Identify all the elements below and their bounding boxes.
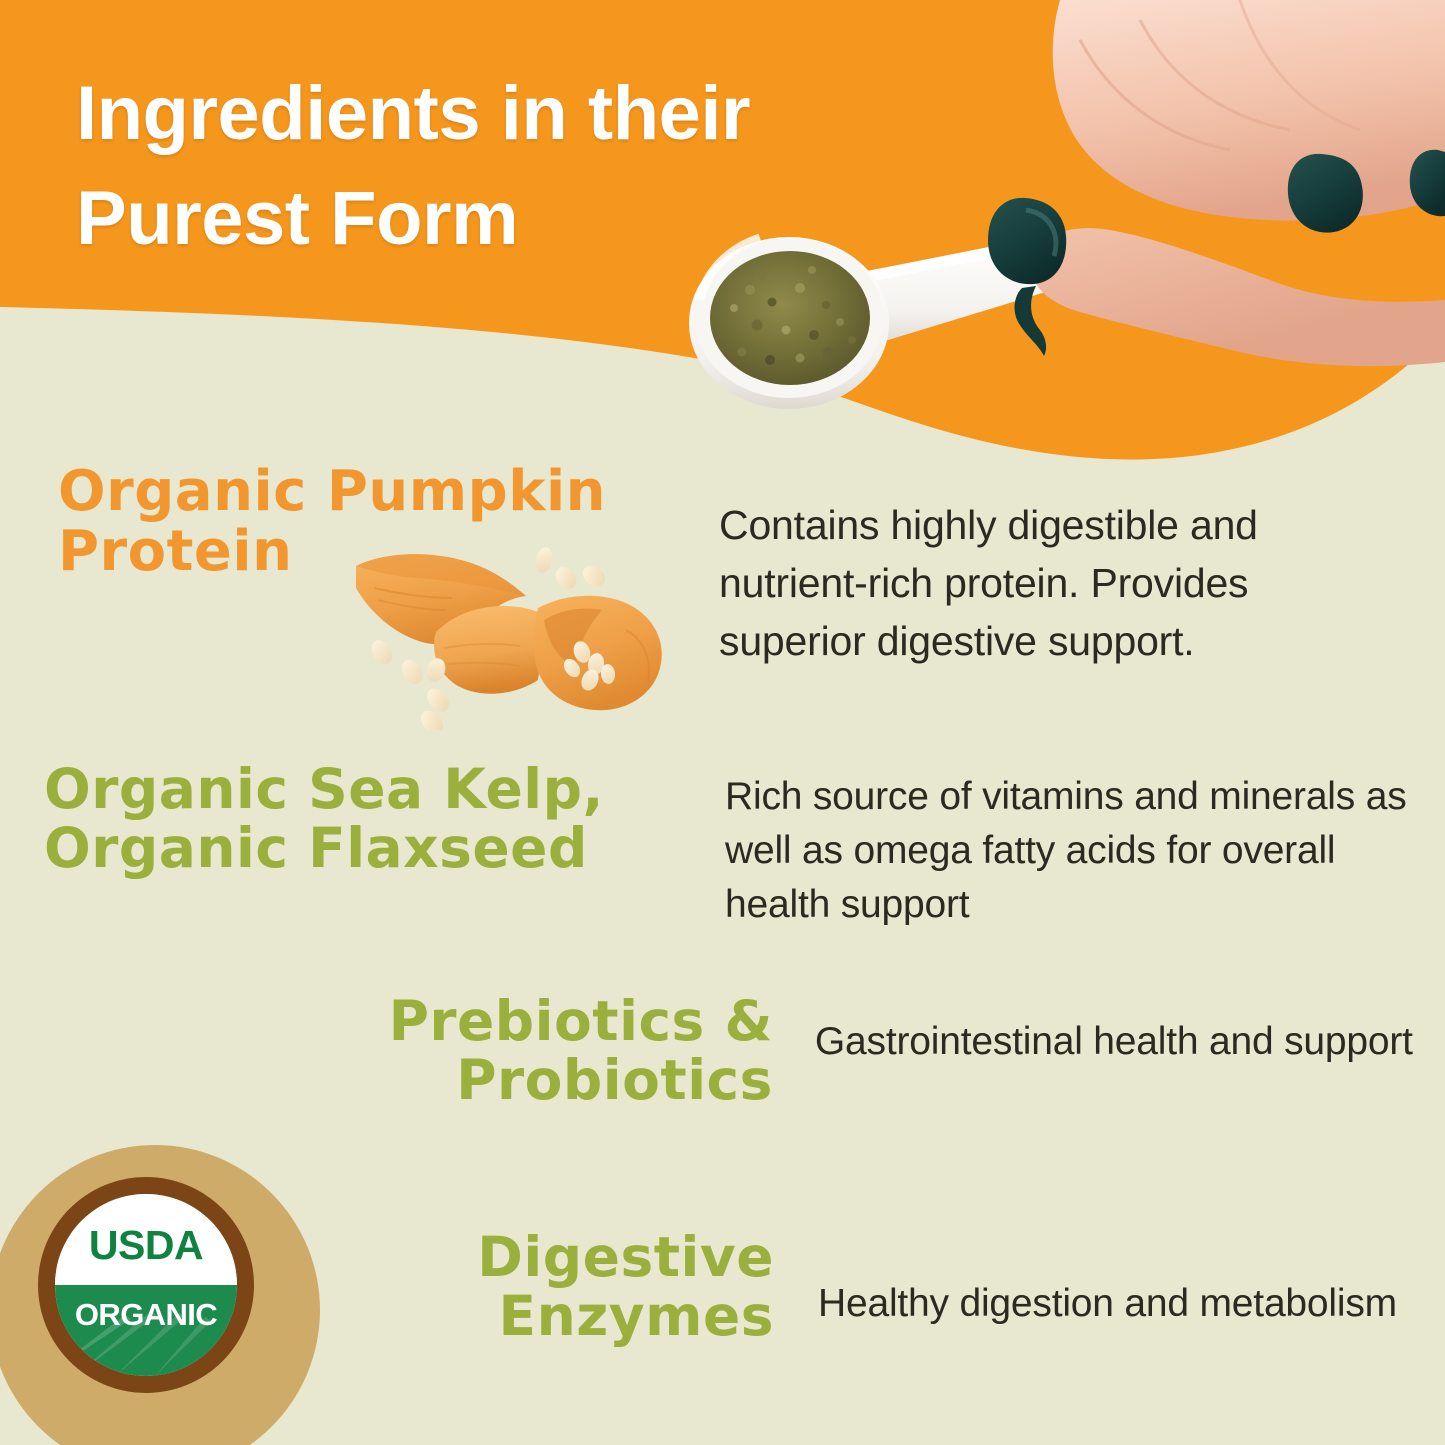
ingredient-name-line1: Prebiotics & <box>44 992 773 1051</box>
ingredient-row: Organic Sea Kelp, Organic Flaxseed Rich … <box>44 760 1414 931</box>
ingredient-name: Organic Sea Kelp, Organic Flaxseed <box>44 760 715 879</box>
usda-organic-seal-icon: USDA ORGANIC <box>38 1177 254 1393</box>
ingredient-description: Gastrointestinal health and support <box>815 992 1414 1069</box>
usda-label: USDA <box>89 1222 203 1269</box>
ingredient-name-line2: Protein <box>58 522 697 582</box>
ingredient-name: Organic Pumpkin Protein <box>58 462 697 583</box>
usda-seal-top: USDA <box>55 1194 237 1285</box>
usda-seal-inner: USDA ORGANIC <box>55 1194 237 1376</box>
ingredient-name-line2: Organic Flaxseed <box>44 819 715 878</box>
ingredient-name-line2: Probiotics <box>44 1051 773 1110</box>
ingredient-row: Organic Pumpkin Protein Contains highly … <box>58 462 1398 671</box>
infographic-canvas: Ingredients in their Purest Form <box>0 0 1445 1445</box>
usda-organic-badge: USDA ORGANIC <box>0 1145 320 1445</box>
ingredient-row: Prebiotics & Probiotics Gastrointestinal… <box>44 992 1414 1111</box>
ingredient-description: Contains highly digestible and nutrient-… <box>719 462 1398 671</box>
page-title-line2: Purest Form <box>76 167 1036 272</box>
ingredient-description: Rich source of vitamins and minerals as … <box>725 760 1414 931</box>
ingredient-description: Healthy digestion and metabolism <box>818 1228 1398 1331</box>
organic-label: ORGANIC <box>75 1297 217 1333</box>
page-title-line1: Ingredients in their <box>76 62 1036 167</box>
page-title: Ingredients in their Purest Form <box>76 62 1036 272</box>
ingredient-name: Prebiotics & Probiotics <box>44 992 773 1111</box>
fingernail <box>1288 154 1363 233</box>
hand <box>988 0 1445 366</box>
ingredient-name-line1: Organic Sea Kelp, <box>44 760 715 819</box>
ingredient-name-line1: Organic Pumpkin <box>58 462 697 522</box>
usda-seal-bottom: ORGANIC <box>55 1285 237 1376</box>
